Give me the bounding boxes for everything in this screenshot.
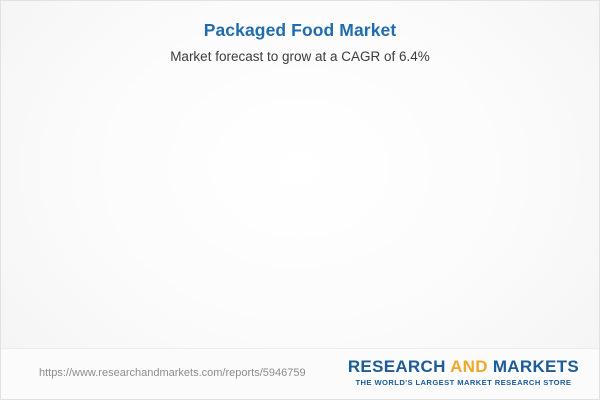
logo-word-and: AND xyxy=(450,357,488,376)
research-and-markets-logo[interactable]: RESEARCH AND MARKETS THE WORLD'S LARGEST… xyxy=(348,357,579,388)
logo-word-research: RESEARCH xyxy=(348,357,446,376)
infographic-canvas: Packaged Food Market Market forecast to … xyxy=(0,0,600,400)
report-url[interactable]: https://www.researchandmarkets.com/repor… xyxy=(39,366,306,380)
logo-wordmark: RESEARCH AND MARKETS xyxy=(348,357,579,377)
logo-word-markets: MARKETS xyxy=(493,357,579,376)
footer-bar: https://www.researchandmarkets.com/repor… xyxy=(1,348,600,399)
logo-tagline: THE WORLD'S LARGEST MARKET RESEARCH STOR… xyxy=(348,378,579,388)
bar-chart: USD 2.79 Trillion 2025 USD 4.96 Trillion xyxy=(1,1,600,351)
